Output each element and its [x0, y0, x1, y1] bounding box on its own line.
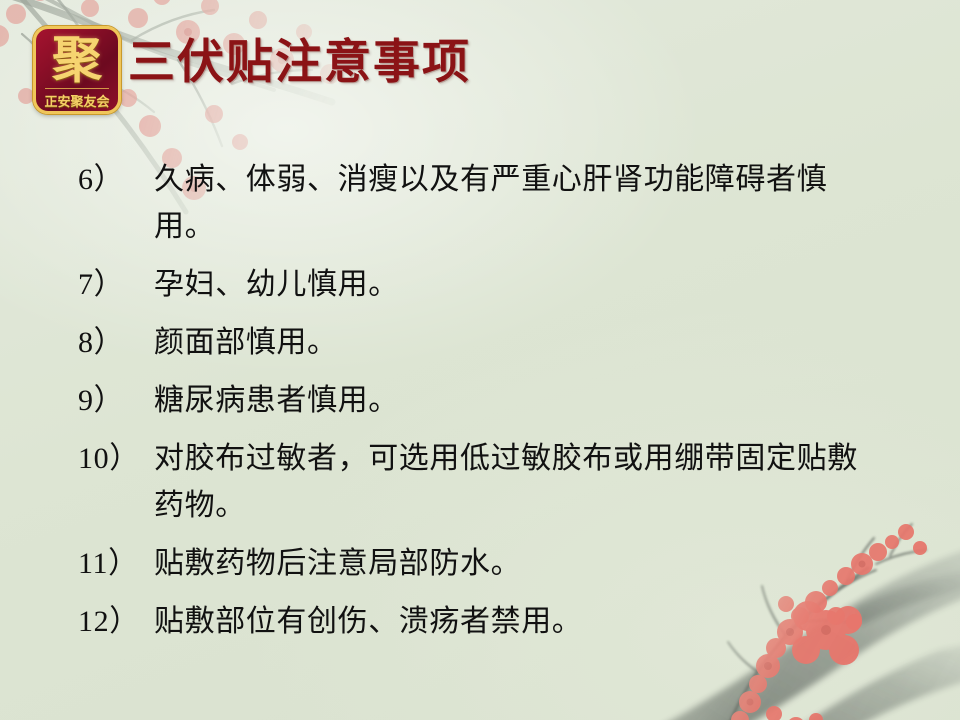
- logo-glyph: 聚: [36, 31, 118, 89]
- list-item-text: 糖尿病患者慎用。: [152, 377, 878, 424]
- page-title: 三伏贴注意事项: [128, 35, 471, 91]
- logo-divider: [45, 88, 109, 89]
- list-item-text: 孕妇、幼儿慎用。: [152, 261, 878, 308]
- brand-logo: 聚 正安聚友会: [33, 26, 121, 114]
- slide-canvas: 聚 正安聚友会 三伏贴注意事项 6） 久病、体弱、消瘦以及有严重心肝肾功能障碍者…: [0, 0, 960, 720]
- logo-subtitle: 正安聚友会: [36, 91, 118, 113]
- list-item-number: 9）: [78, 377, 152, 424]
- list-item-text: 贴敷药物后注意局部防水。: [152, 540, 878, 587]
- list-item: 7） 孕妇、幼儿慎用。: [78, 261, 878, 308]
- notice-list: 6） 久病、体弱、消瘦以及有严重心肝肾功能障碍者慎用。 7） 孕妇、幼儿慎用。 …: [78, 156, 878, 656]
- list-item-number: 6）: [78, 156, 152, 203]
- list-item-number: 12）: [78, 598, 152, 645]
- list-item: 11） 贴敷药物后注意局部防水。: [78, 540, 878, 587]
- list-item-text: 贴敷部位有创伤、溃疡者禁用。: [152, 598, 878, 645]
- list-item: 6） 久病、体弱、消瘦以及有严重心肝肾功能障碍者慎用。: [78, 156, 878, 250]
- list-item-text: 久病、体弱、消瘦以及有严重心肝肾功能障碍者慎用。: [152, 156, 876, 250]
- list-item-number: 11）: [78, 540, 152, 587]
- list-item: 9） 糖尿病患者慎用。: [78, 377, 878, 424]
- list-item: 10） 对胶布过敏者，可选用低过敏胶布或用绷带固定贴敷药物。: [78, 435, 878, 529]
- list-item-number: 10）: [78, 435, 152, 482]
- list-item-number: 7）: [78, 261, 152, 308]
- slide-header: 聚 正安聚友会 三伏贴注意事项: [0, 0, 960, 132]
- list-item-number: 8）: [78, 319, 152, 366]
- list-item-text: 对胶布过敏者，可选用低过敏胶布或用绷带固定贴敷药物。: [152, 435, 876, 529]
- list-item-text: 颜面部慎用。: [152, 319, 878, 366]
- list-item: 8） 颜面部慎用。: [78, 319, 878, 366]
- list-item: 12） 贴敷部位有创伤、溃疡者禁用。: [78, 598, 878, 645]
